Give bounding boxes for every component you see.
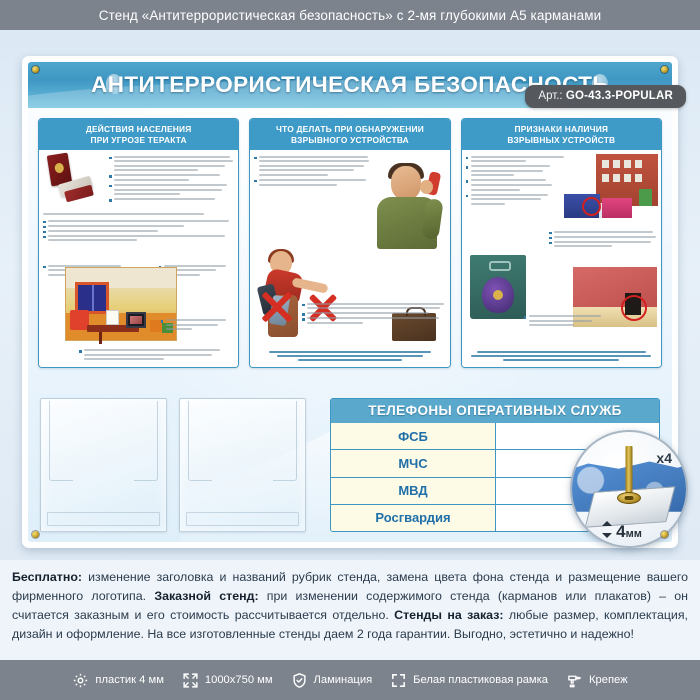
panel-signs-text-mid [549, 228, 657, 250]
truck-icon [602, 198, 632, 218]
mobile-phones-prohibited-illustration [258, 285, 298, 329]
article-badge: Арт.: GO-43.3-POPULAR [525, 85, 686, 108]
article-value: GO-43.3-POPULAR [566, 90, 673, 102]
panel-actions-heading-line1: ДЕЙСТВИЯ НАСЕЛЕНИЯ [42, 124, 235, 135]
man-on-phone-illustration [371, 166, 447, 248]
panel-signs-text-top [466, 153, 566, 208]
feature-fasteners: Крепеж [566, 672, 628, 689]
panel-signs-body [462, 150, 661, 367]
description-custom-label: Заказной стенд: [154, 589, 258, 603]
panel-actions-heading-line2: ПРИ УГРОЗЕ ТЕРАКТА [42, 135, 235, 146]
screw-icon [32, 66, 39, 73]
suspicious-object-icon [482, 277, 514, 313]
page-title-bar: Стенд «Антитеррористическая безопасность… [0, 0, 700, 30]
panel-signs-heading: ПРИЗНАКИ НАЛИЧИЯ ВЗРЫВНЫХ УСТРОЙСТВ [462, 119, 661, 150]
door-icon [639, 189, 652, 206]
panel-signs-footer-note [468, 349, 655, 363]
panel-actions-note-side [161, 317, 233, 333]
panel-signs-heading-line1: ПРИЗНАКИ НАЛИЧИЯ [465, 124, 658, 135]
service-name: ФСБ [331, 423, 495, 449]
screw-icon [661, 531, 668, 538]
panel-explosive-warning-note [256, 349, 443, 363]
screw-head-icon [617, 492, 641, 504]
panel-signs-heading-line2: ВЗРЫВНЫХ УСТРОЙСТВ [465, 135, 658, 146]
mount-count: x4 [656, 450, 672, 466]
product-stage: АНТИТЕРРОРИСТИЧЕСКАЯ БЕЗОПАСНОСТЬ ДЕЙСТВ… [0, 30, 700, 560]
mount-thickness-unit: мм [626, 528, 642, 540]
panel-actions-heading: ДЕЙСТВИЯ НАСЕЛЕНИЯ ПРИ УГРОЗЕ ТЕРАКТА [39, 119, 238, 150]
frame-icon [390, 672, 407, 689]
highlight-ring-icon [621, 295, 647, 321]
feature-fasteners-label: Крепеж [589, 674, 628, 686]
service-name: МЧС [331, 450, 495, 476]
screw-icon [32, 531, 39, 538]
screw-icon [661, 66, 668, 73]
feature-frame-label: Белая пластиковая рамка [413, 674, 548, 686]
panel-explosive-text-bottom [302, 300, 445, 327]
gear-icon [72, 672, 89, 689]
a5-pocket-2[interactable] [179, 398, 306, 532]
service-name: МВД [331, 478, 495, 504]
a5-pockets-group [40, 398, 306, 532]
feature-lamination: Ламинация [291, 672, 373, 689]
service-name: Росгвардия [331, 505, 495, 531]
feature-material-label: пластик 4 мм [95, 674, 164, 686]
panel-actions-text-wide [43, 210, 234, 244]
paper-icon [106, 310, 119, 325]
panel-explosive-found: ЧТО ДЕЛАТЬ ПРИ ОБНАРУЖЕНИИ ВЗРЫВНОГО УСТ… [249, 118, 450, 368]
feature-frame: Белая пластиковая рамка [390, 672, 548, 689]
panel-explosive-found-heading-line2: ВЗРЫВНОГО УСТРОЙСТВА [253, 135, 446, 146]
mount-thickness: 4мм [572, 522, 686, 542]
feature-material: пластик 4 мм [72, 672, 164, 689]
documents-illustration [43, 154, 105, 206]
emergency-phones-header: ТЕЛЕФОНЫ ОПЕРАТИВНЫХ СЛУЖБ [331, 399, 659, 423]
product-description: Бесплатно: изменение заголовка и названи… [0, 560, 700, 660]
panel-explosive-found-body [250, 150, 449, 367]
feature-bar: пластик 4 мм 1000x750 мм Ламинация Белая… [0, 660, 700, 700]
hand [420, 180, 433, 194]
screw-shaft-icon [626, 446, 633, 498]
panel-actions-text-column [109, 153, 234, 203]
panel-signs: ПРИЗНАКИ НАЛИЧИЯ ВЗРЫВНЫХ УСТРОЙСТВ [461, 118, 662, 368]
panel-explosive-text-top [254, 153, 370, 189]
description-order-label: Стенды на заказ: [394, 608, 503, 622]
panel-signs-text-bag [524, 313, 608, 329]
feature-lamination-label: Ламинация [314, 674, 373, 686]
panel-actions: ДЕЙСТВИЯ НАСЕЛЕНИЯ ПРИ УГРОЗЕ ТЕРАКТА [38, 118, 239, 368]
prohibition-cross-icon [258, 288, 296, 326]
highlight-ring-icon [582, 197, 601, 216]
mount-thickness-value: 4 [616, 522, 625, 541]
resize-icon [182, 672, 199, 689]
panel-explosive-found-heading-line1: ЧТО ДЕЛАТЬ ПРИ ОБНАРУЖЕНИИ [253, 124, 446, 135]
panel-actions-body [39, 150, 238, 367]
article-label: Арт.: [538, 90, 562, 102]
street-scene-illustration [554, 154, 658, 224]
page-title: Стенд «Антитеррористическая безопасность… [99, 8, 601, 23]
mount-thickness-badge: x4 4мм [570, 430, 688, 548]
feature-size-label: 1000x750 мм [205, 674, 273, 686]
drill-icon [566, 672, 583, 689]
abandoned-bag-illustration [470, 255, 526, 319]
panel-actions-note-bottom [79, 347, 232, 363]
feature-size: 1000x750 мм [182, 672, 273, 689]
tv-icon [126, 312, 146, 328]
description-free-label: Бесплатно: [12, 570, 82, 584]
poster-panels: ДЕЙСТВИЯ НАСЕЛЕНИЯ ПРИ УГРОЗЕ ТЕРАКТА [38, 118, 662, 368]
panel-explosive-found-heading: ЧТО ДЕЛАТЬ ПРИ ОБНАРУЖЕНИИ ВЗРЫВНОГО УСТ… [250, 119, 449, 150]
a5-pocket-1[interactable] [40, 398, 167, 532]
shield-check-icon [291, 672, 308, 689]
head [391, 166, 421, 200]
